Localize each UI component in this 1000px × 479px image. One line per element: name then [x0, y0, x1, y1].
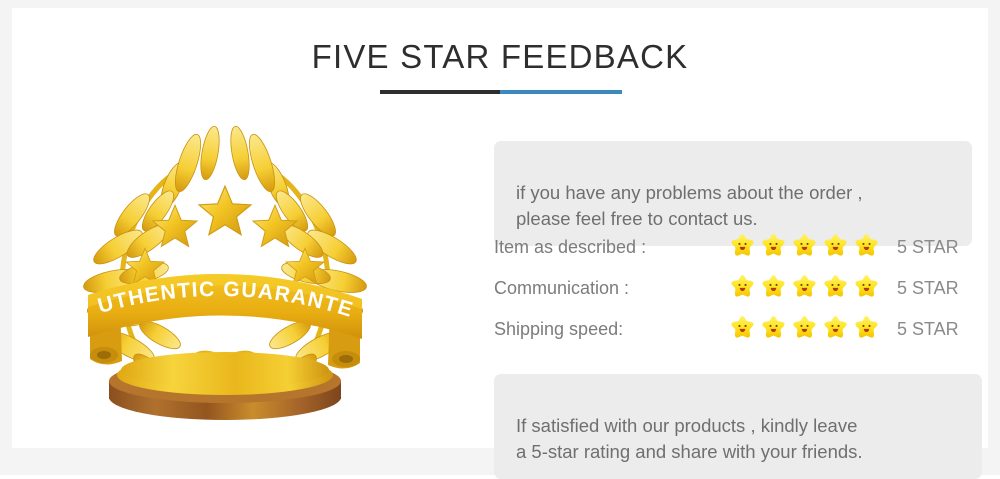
star-icon — [791, 232, 818, 259]
star-icon — [729, 232, 756, 259]
star-icon — [853, 273, 880, 300]
star-icon — [822, 232, 849, 259]
star-icon — [791, 314, 818, 341]
table-row: Shipping speed: 5 STAR — [494, 314, 982, 355]
star-icon — [729, 273, 756, 300]
title-underline-dark-segment — [380, 90, 500, 94]
rating-stars-item-as-described — [729, 232, 880, 259]
page-title: FIVE STAR FEEDBACK — [12, 36, 988, 78]
rating-stars-shipping-speed — [729, 314, 880, 341]
call-to-action-bubble: If satisfied with our products , kindly … — [494, 374, 982, 479]
rating-label-communication: Communication : — [494, 278, 629, 299]
star-icon — [822, 314, 849, 341]
emblem-star-3 — [199, 186, 251, 235]
table-row: Item as described : 5 STAR — [494, 232, 982, 273]
authentic-guarantee-emblem: AUTHENTIC GUARANTEE — [60, 123, 390, 423]
rating-value-communication: 5 STAR — [897, 278, 959, 299]
star-icon — [791, 273, 818, 300]
emblem-base — [109, 352, 341, 420]
support-message-bubble-tail — [506, 206, 536, 222]
table-row: Communication : 5 STAR — [494, 273, 982, 314]
support-message-bubble: if you have any problems about the order… — [494, 141, 972, 246]
feedback-banner: FIVE STAR FEEDBACK — [0, 0, 1000, 475]
star-icon — [729, 314, 756, 341]
star-icon — [760, 314, 787, 341]
rating-stars-communication — [729, 273, 880, 300]
star-icon — [853, 232, 880, 259]
content-panel: FIVE STAR FEEDBACK — [12, 8, 988, 448]
rating-value-shipping-speed: 5 STAR — [897, 319, 959, 340]
star-icon — [822, 273, 849, 300]
title-underline — [380, 90, 622, 94]
star-icon — [760, 273, 787, 300]
rating-label-item-as-described: Item as described : — [494, 237, 646, 258]
rating-value-item-as-described: 5 STAR — [897, 237, 959, 258]
page-header: FIVE STAR FEEDBACK — [12, 36, 988, 78]
rating-label-shipping-speed: Shipping speed: — [494, 319, 623, 340]
support-message-text: if you have any problems about the order… — [516, 182, 863, 229]
rating-list: Item as described : 5 STAR Communication… — [494, 232, 982, 355]
call-to-action-text: If satisfied with our products , kindly … — [516, 415, 863, 462]
feedback-details: if you have any problems about the order… — [482, 126, 982, 436]
star-icon — [853, 314, 880, 341]
title-underline-accent-segment — [500, 90, 622, 94]
star-icon — [760, 232, 787, 259]
